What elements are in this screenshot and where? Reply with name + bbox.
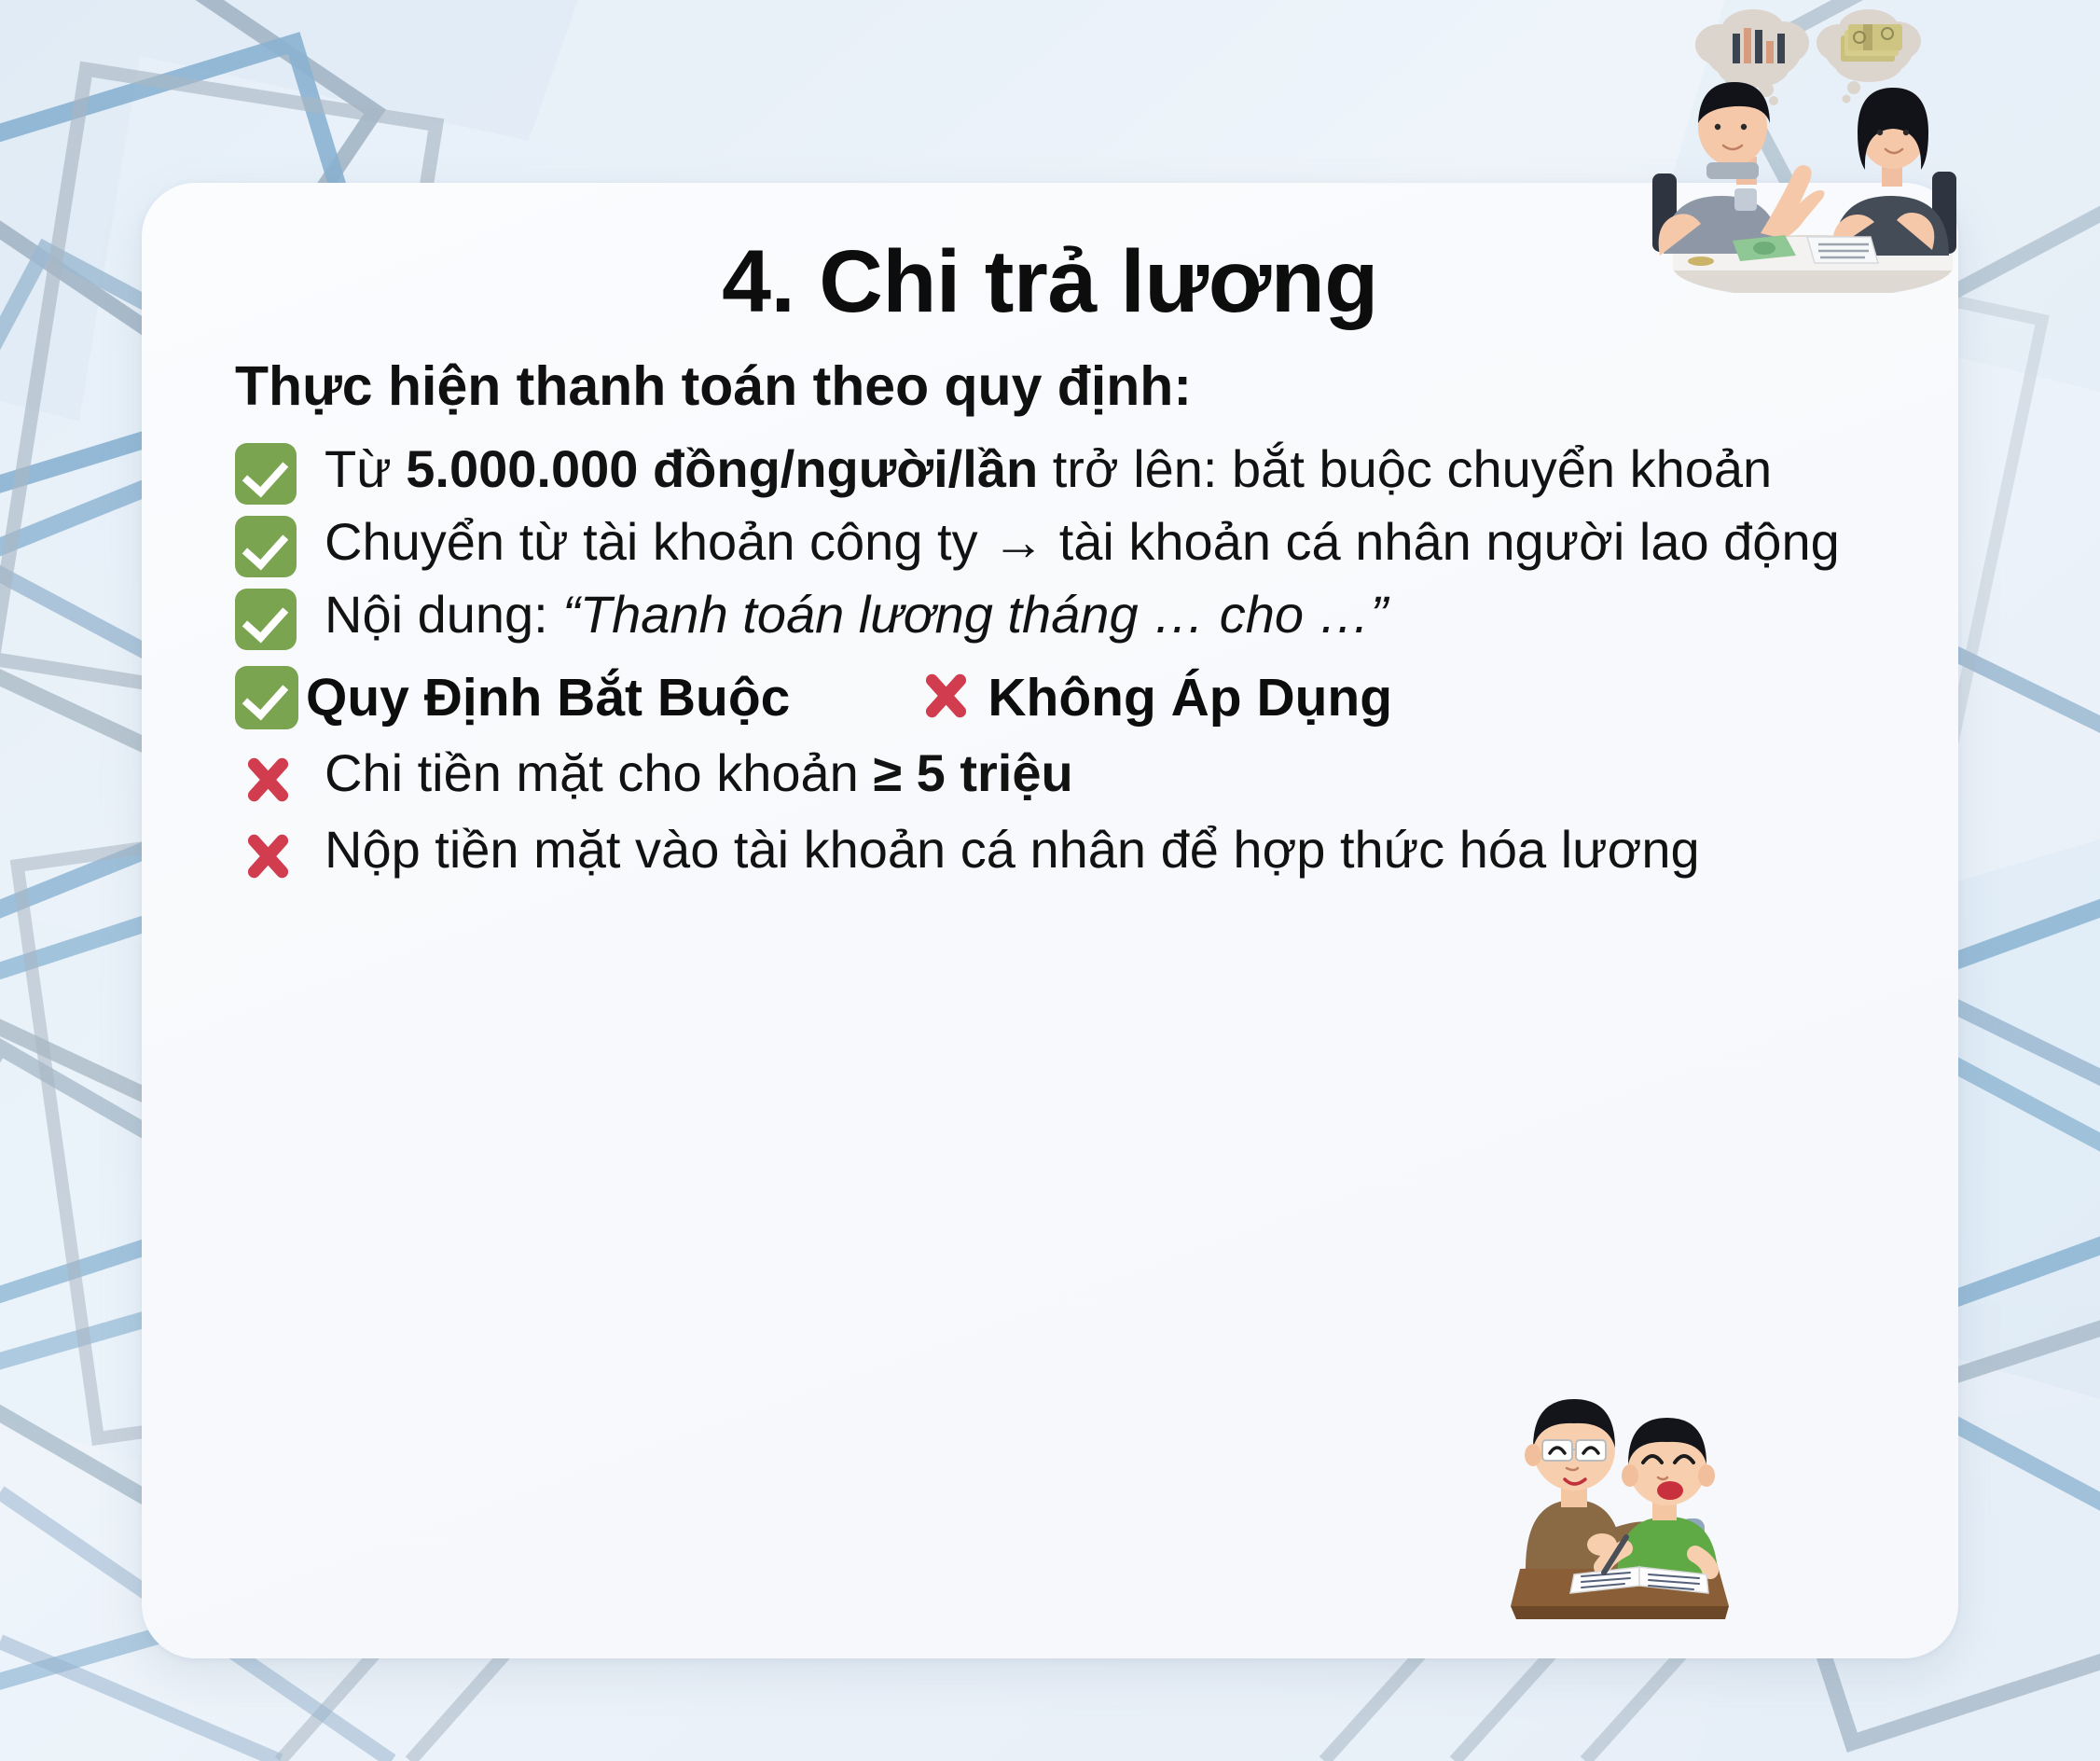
green-check-icon: [235, 666, 298, 729]
person-left: [1659, 82, 1825, 256]
red-x-icon: [235, 816, 311, 889]
card-body: Thực hiện thanh toán theo quy định: Từ 5…: [235, 355, 1893, 893]
red-x-icon: [911, 663, 980, 732]
red-x-icon: [235, 740, 311, 812]
list-item: Từ 5.000.000 đồng/người/lần trở lên: bắt…: [235, 436, 1893, 505]
legend-denied: Không Áp Dụng: [911, 663, 1392, 732]
list-item: Chi tiền mặt cho khoản ≥ 5 triệu: [235, 740, 1893, 812]
legend-denied-label: Không Áp Dụng: [988, 667, 1392, 728]
list-item-text: Nộp tiền mặt vào tài khoản cá nhân để hợ…: [325, 816, 1893, 884]
list-item-text: Từ 5.000.000 đồng/người/lần trở lên: bắt…: [325, 436, 1893, 504]
subtitle: Thực hiện thanh toán theo quy định:: [235, 355, 1893, 417]
list-item-text: Chuyển từ tài khoản công ty → tài khoản …: [325, 508, 1893, 576]
money-thought-bubble: [1817, 9, 1921, 104]
list-item-text: Chi tiền mặt cho khoản ≥ 5 triệu: [325, 740, 1893, 808]
legend-row: Quy Định Bắt Buộc Không Áp Dụng: [235, 663, 1893, 732]
legend-allowed-label: Quy Định Bắt Buộc: [306, 667, 790, 728]
green-check-icon: [235, 581, 311, 650]
two-people-discussing-finance-illustration: [1643, 0, 1979, 293]
person-right: [1832, 88, 1949, 256]
list-item: Nội dung: “Thanh toán lương tháng … cho …: [235, 581, 1893, 650]
green-check-icon: [235, 436, 311, 505]
legend-allowed: Quy Định Bắt Buộc: [235, 666, 790, 729]
money-stack-icon: [1841, 24, 1902, 62]
list-item: Nộp tiền mặt vào tài khoản cá nhân để hợ…: [235, 816, 1893, 889]
list-item-text: Nội dung: “Thanh toán lương tháng … cho …: [325, 581, 1893, 649]
slide-canvas: 4. Chi trả lương Thực hiện thanh toán th…: [0, 0, 2100, 1761]
teacher-helping-student-writing-illustration: [1485, 1352, 1802, 1632]
green-check-icon: [235, 508, 311, 577]
list-item: Chuyển từ tài khoản công ty → tài khoản …: [235, 508, 1893, 577]
